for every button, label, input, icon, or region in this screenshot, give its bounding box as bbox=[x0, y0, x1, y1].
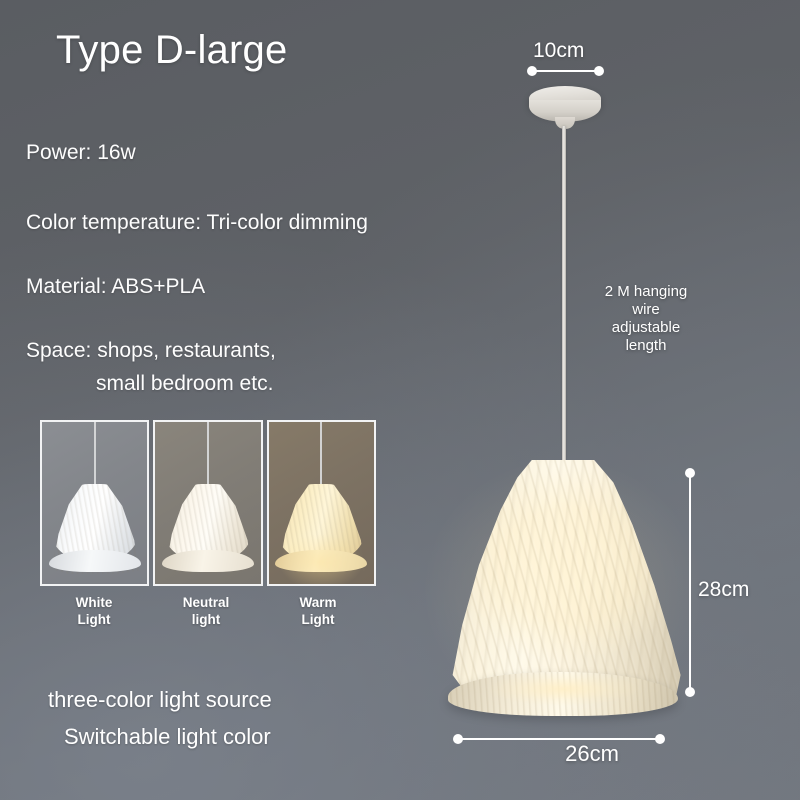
swatch-label-white: White Light bbox=[40, 594, 148, 628]
hanging-wire-note: 2 M hanging wire adjustable length bbox=[578, 283, 714, 355]
lamp-shade bbox=[443, 460, 683, 710]
wire-note-line-1: 2 M hanging bbox=[605, 283, 688, 300]
swatch-label-white-line2: Light bbox=[78, 612, 111, 627]
spec-material: Material: ABS+PLA bbox=[26, 275, 205, 299]
dimension-endpoint-dot bbox=[594, 66, 604, 76]
swatch-lamp-icon bbox=[275, 484, 367, 574]
dimension-label-shade-diameter: 26cm bbox=[524, 741, 660, 767]
wire-note-line-2: wire bbox=[632, 301, 660, 318]
spec-space: Space: shops, restaurants, bbox=[26, 339, 276, 363]
product-spec-image: Type D-large Power: 16w Color temperatur… bbox=[0, 0, 800, 800]
spec-power: Power: 16w bbox=[26, 141, 136, 165]
dimension-label-shade-height: 28cm bbox=[698, 578, 749, 602]
swatch-neutral-light[interactable] bbox=[153, 420, 262, 586]
color-temperature-swatches bbox=[40, 420, 376, 586]
bottom-caption: three-color light source Switchable ligh… bbox=[48, 681, 272, 755]
wire-note-line-4: length bbox=[626, 337, 667, 354]
swatch-label-neutral-line2: light bbox=[192, 612, 221, 627]
spec-space-continued: small bedroom etc. bbox=[96, 372, 273, 396]
dimension-label-canopy-diameter: 10cm bbox=[533, 39, 584, 63]
swatch-cord bbox=[207, 422, 209, 486]
swatch-label-warm-line1: Warm bbox=[299, 595, 336, 610]
dimension-endpoint-dot bbox=[527, 66, 537, 76]
swatch-label-warm-line2: Light bbox=[302, 612, 335, 627]
swatch-cord bbox=[94, 422, 96, 486]
caption-line-2: Switchable light color bbox=[48, 718, 272, 755]
swatch-label-white-line1: White bbox=[76, 595, 113, 610]
dimension-endpoint-dot bbox=[685, 687, 695, 697]
swatch-lamp-icon bbox=[49, 484, 141, 574]
dimension-line-shade-diameter bbox=[461, 738, 659, 740]
swatch-white-light[interactable] bbox=[40, 420, 149, 586]
dimension-endpoint-dot bbox=[453, 734, 463, 744]
wire-note-line-3: adjustable bbox=[612, 319, 680, 336]
spec-color-temperature: Color temperature: Tri-color dimming bbox=[26, 211, 368, 235]
dimension-line-shade-height bbox=[689, 474, 691, 692]
caption-line-1: three-color light source bbox=[48, 687, 272, 712]
dimension-endpoint-dot bbox=[685, 468, 695, 478]
swatch-label-neutral: Neutral light bbox=[152, 594, 260, 628]
hanging-wire bbox=[562, 126, 566, 466]
page-title: Type D-large bbox=[56, 28, 287, 73]
swatch-cord bbox=[320, 422, 322, 486]
swatch-lamp-icon bbox=[162, 484, 254, 574]
swatch-warm-light[interactable] bbox=[267, 420, 376, 586]
dimension-line-canopy-diameter bbox=[531, 70, 599, 72]
swatch-label-neutral-line1: Neutral bbox=[183, 595, 230, 610]
swatch-label-warm: Warm Light bbox=[264, 594, 372, 628]
